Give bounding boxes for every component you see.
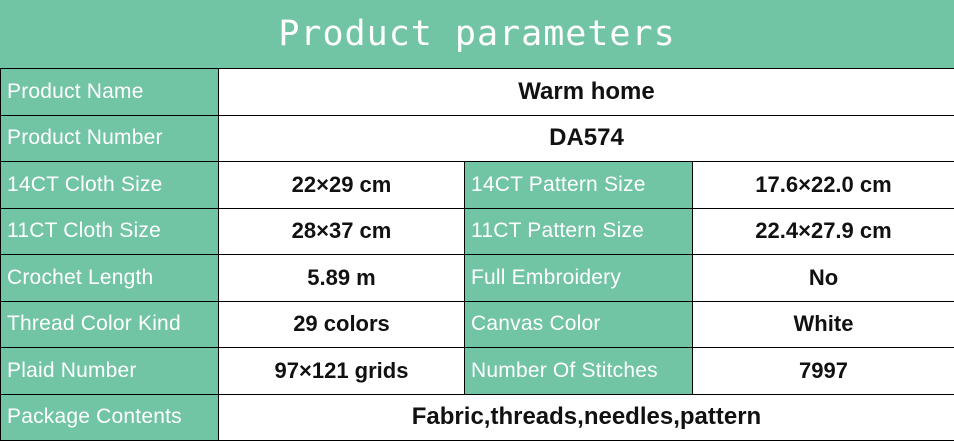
- row-label-product-number: Product Number: [1, 115, 219, 162]
- row-label-crochet-length: Crochet Length: [1, 255, 219, 302]
- page-title-banner: Product parameters: [0, 0, 954, 68]
- row-value-thread-color-kind: 29 colors: [219, 301, 465, 348]
- row-label-full-embroidery: Full Embroidery: [465, 255, 693, 302]
- row-value-package-contents: Fabric,threads,needles,pattern: [219, 394, 954, 441]
- table-row: Product Number DA574: [1, 115, 954, 162]
- row-value-product-name: Warm home: [219, 69, 954, 116]
- row-label-11ct-pattern-size: 11CT Pattern Size: [465, 208, 693, 255]
- row-value-product-number: DA574: [219, 115, 954, 162]
- page-title: Product parameters: [278, 17, 675, 52]
- row-value-14ct-pattern-size: 17.6×22.0 cm: [693, 162, 954, 209]
- product-parameters-sheet: Product parameters Product Name Warm hom…: [0, 0, 954, 441]
- table-row: 11CT Cloth Size 28×37 cm 11CT Pattern Si…: [1, 208, 954, 255]
- row-value-plaid-number: 97×121 grids: [219, 348, 465, 395]
- row-value-11ct-cloth-size: 28×37 cm: [219, 208, 465, 255]
- row-label-package-contents: Package Contents: [1, 394, 219, 441]
- parameters-table-body: Product Name Warm home Product Number DA…: [1, 69, 954, 441]
- row-value-number-of-stitches: 7997: [693, 348, 954, 395]
- parameters-table: Product Name Warm home Product Number DA…: [0, 68, 954, 441]
- row-value-full-embroidery: No: [693, 255, 954, 302]
- row-label-11ct-cloth-size: 11CT Cloth Size: [1, 208, 219, 255]
- row-value-crochet-length: 5.89 m: [219, 255, 465, 302]
- table-row: Crochet Length 5.89 m Full Embroidery No: [1, 255, 954, 302]
- row-label-plaid-number: Plaid Number: [1, 348, 219, 395]
- row-label-number-of-stitches: Number Of Stitches: [465, 348, 693, 395]
- table-row: Thread Color Kind 29 colors Canvas Color…: [1, 301, 954, 348]
- row-value-canvas-color: White: [693, 301, 954, 348]
- row-value-11ct-pattern-size: 22.4×27.9 cm: [693, 208, 954, 255]
- row-value-14ct-cloth-size: 22×29 cm: [219, 162, 465, 209]
- table-row: Plaid Number 97×121 grids Number Of Stit…: [1, 348, 954, 395]
- row-label-14ct-pattern-size: 14CT Pattern Size: [465, 162, 693, 209]
- row-label-14ct-cloth-size: 14CT Cloth Size: [1, 162, 219, 209]
- row-label-thread-color-kind: Thread Color Kind: [1, 301, 219, 348]
- table-row: Product Name Warm home: [1, 69, 954, 116]
- table-row: Package Contents Fabric,threads,needles,…: [1, 394, 954, 441]
- table-row: 14CT Cloth Size 22×29 cm 14CT Pattern Si…: [1, 162, 954, 209]
- row-label-product-name: Product Name: [1, 69, 219, 116]
- row-label-canvas-color: Canvas Color: [465, 301, 693, 348]
